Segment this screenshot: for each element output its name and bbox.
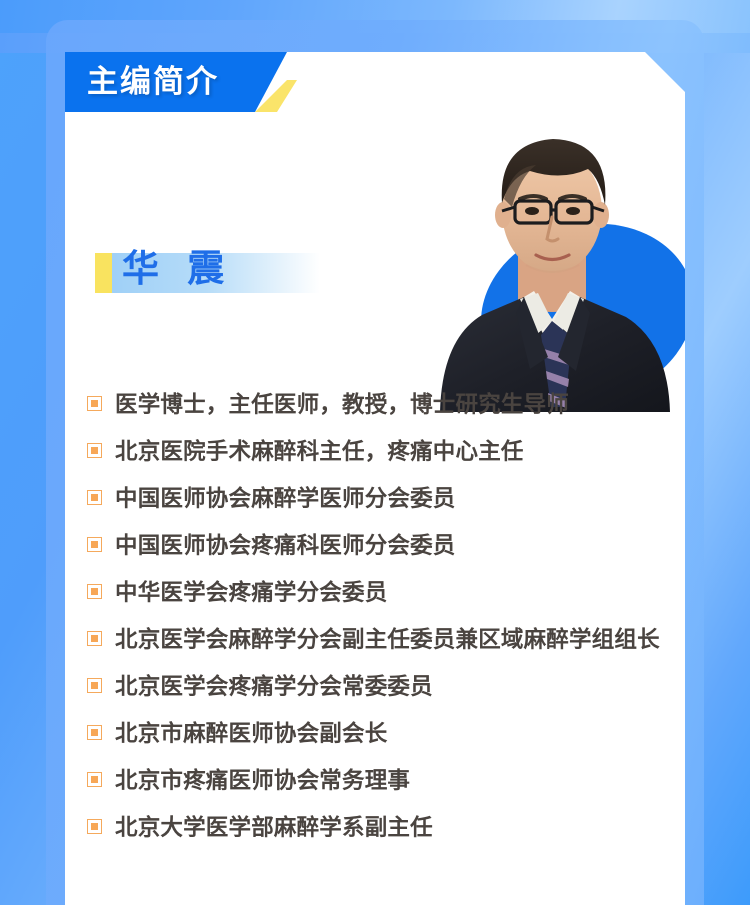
list-item: 北京医院手术麻醉科主任，疼痛中心主任	[87, 434, 667, 470]
list-item-label: 中华医学会疼痛学分会委员	[115, 575, 387, 611]
bullet-square-icon	[87, 443, 102, 458]
bullet-square-icon	[87, 537, 102, 552]
list-item: 北京市疼痛医师协会常务理事	[87, 763, 667, 799]
list-item: 中国医师协会麻醉学医师分会委员	[87, 481, 667, 517]
list-item: 北京大学医学部麻醉学系副主任	[87, 810, 667, 846]
list-item-label: 北京市麻醉医师协会副会长	[115, 716, 387, 752]
portrait	[420, 107, 685, 412]
bullet-square-icon	[87, 631, 102, 646]
bullet-square-icon	[87, 819, 102, 834]
list-item: 北京医学会麻醉学分会副主任委员兼区域麻醉学组组长	[87, 622, 667, 658]
list-item: 北京医学会疼痛学分会常委委员	[87, 669, 667, 705]
bullet-square-icon	[87, 725, 102, 740]
list-item: 医学博士，主任医师，教授，博士研究生导师	[87, 387, 667, 423]
list-item-label: 北京医学会疼痛学分会常委委员	[115, 669, 433, 705]
bullet-square-icon	[87, 490, 102, 505]
portrait-photo	[420, 107, 685, 412]
list-item-label: 北京大学医学部麻醉学系副主任	[115, 810, 433, 846]
list-item-label: 北京医院手术麻醉科主任，疼痛中心主任	[115, 434, 524, 470]
section-banner: 主编简介	[65, 52, 287, 112]
profile-name: 华 震	[122, 245, 233, 293]
content-card: 主编简介	[65, 52, 685, 905]
page-title: 主编简介	[87, 52, 219, 112]
bullet-square-icon	[87, 678, 102, 693]
list-item: 北京市麻醉医师协会副会长	[87, 716, 667, 752]
bullet-square-icon	[87, 772, 102, 787]
credentials-list: 医学博士，主任医师，教授，博士研究生导师 北京医院手术麻醉科主任，疼痛中心主任 …	[87, 387, 667, 857]
list-item-label: 北京医学会麻醉学分会副主任委员兼区域麻醉学组组长	[115, 622, 660, 658]
list-item-label: 中国医师协会麻醉学医师分会委员	[115, 481, 456, 517]
bullet-square-icon	[87, 396, 102, 411]
name-block: 华 震	[95, 245, 325, 293]
list-item: 中国医师协会疼痛科医师分会委员	[87, 528, 667, 564]
name-accent-bar	[95, 253, 112, 293]
bullet-square-icon	[87, 584, 102, 599]
profile-page: 主编简介	[0, 0, 750, 905]
list-item-label: 医学博士，主任医师，教授，博士研究生导师	[115, 387, 569, 423]
list-item-label: 中国医师协会疼痛科医师分会委员	[115, 528, 456, 564]
list-item-label: 北京市疼痛医师协会常务理事	[115, 763, 410, 799]
list-item: 中华医学会疼痛学分会委员	[87, 575, 667, 611]
